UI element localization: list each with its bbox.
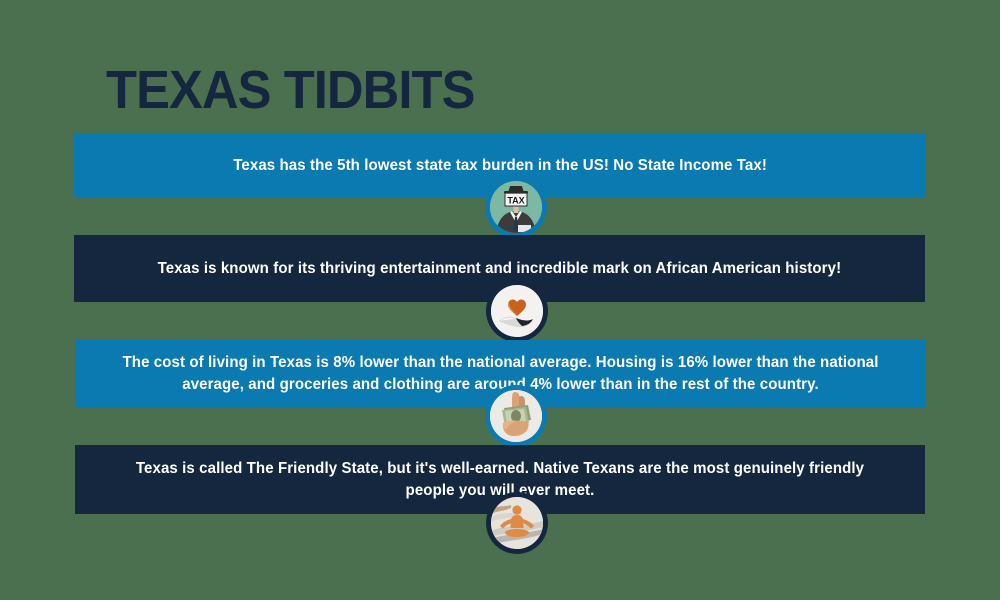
page-title: TEXAS TIDBITS <box>106 62 475 118</box>
hand-holding-heart-icon-graphic <box>491 285 543 337</box>
icon-inner-background <box>491 497 543 549</box>
icon-inner-background <box>490 390 542 442</box>
hand-holding-cash-icon <box>485 385 547 447</box>
svg-text:TAX: TAX <box>507 196 524 206</box>
tax-man-icon-graphic: TAX <box>490 181 542 233</box>
tax-man-icon: TAX <box>485 176 547 238</box>
fact-text: Texas is known for its thriving entertai… <box>158 258 842 279</box>
fact-text: Texas is called The Friendly State, but … <box>113 458 887 502</box>
icon-inner-background <box>491 285 543 337</box>
fact-text: Texas has the 5th lowest state tax burde… <box>233 155 767 176</box>
hand-holding-heart-icon <box>486 280 548 342</box>
hand-holding-cash-icon-graphic <box>490 390 542 442</box>
yoga-meditation-icon-graphic <box>491 497 543 549</box>
yoga-meditation-icon <box>486 492 548 554</box>
icon-inner-background: TAX <box>490 181 542 233</box>
infographic-canvas: TEXAS TIDBITS Texas has the 5th lowest s… <box>0 0 1000 600</box>
